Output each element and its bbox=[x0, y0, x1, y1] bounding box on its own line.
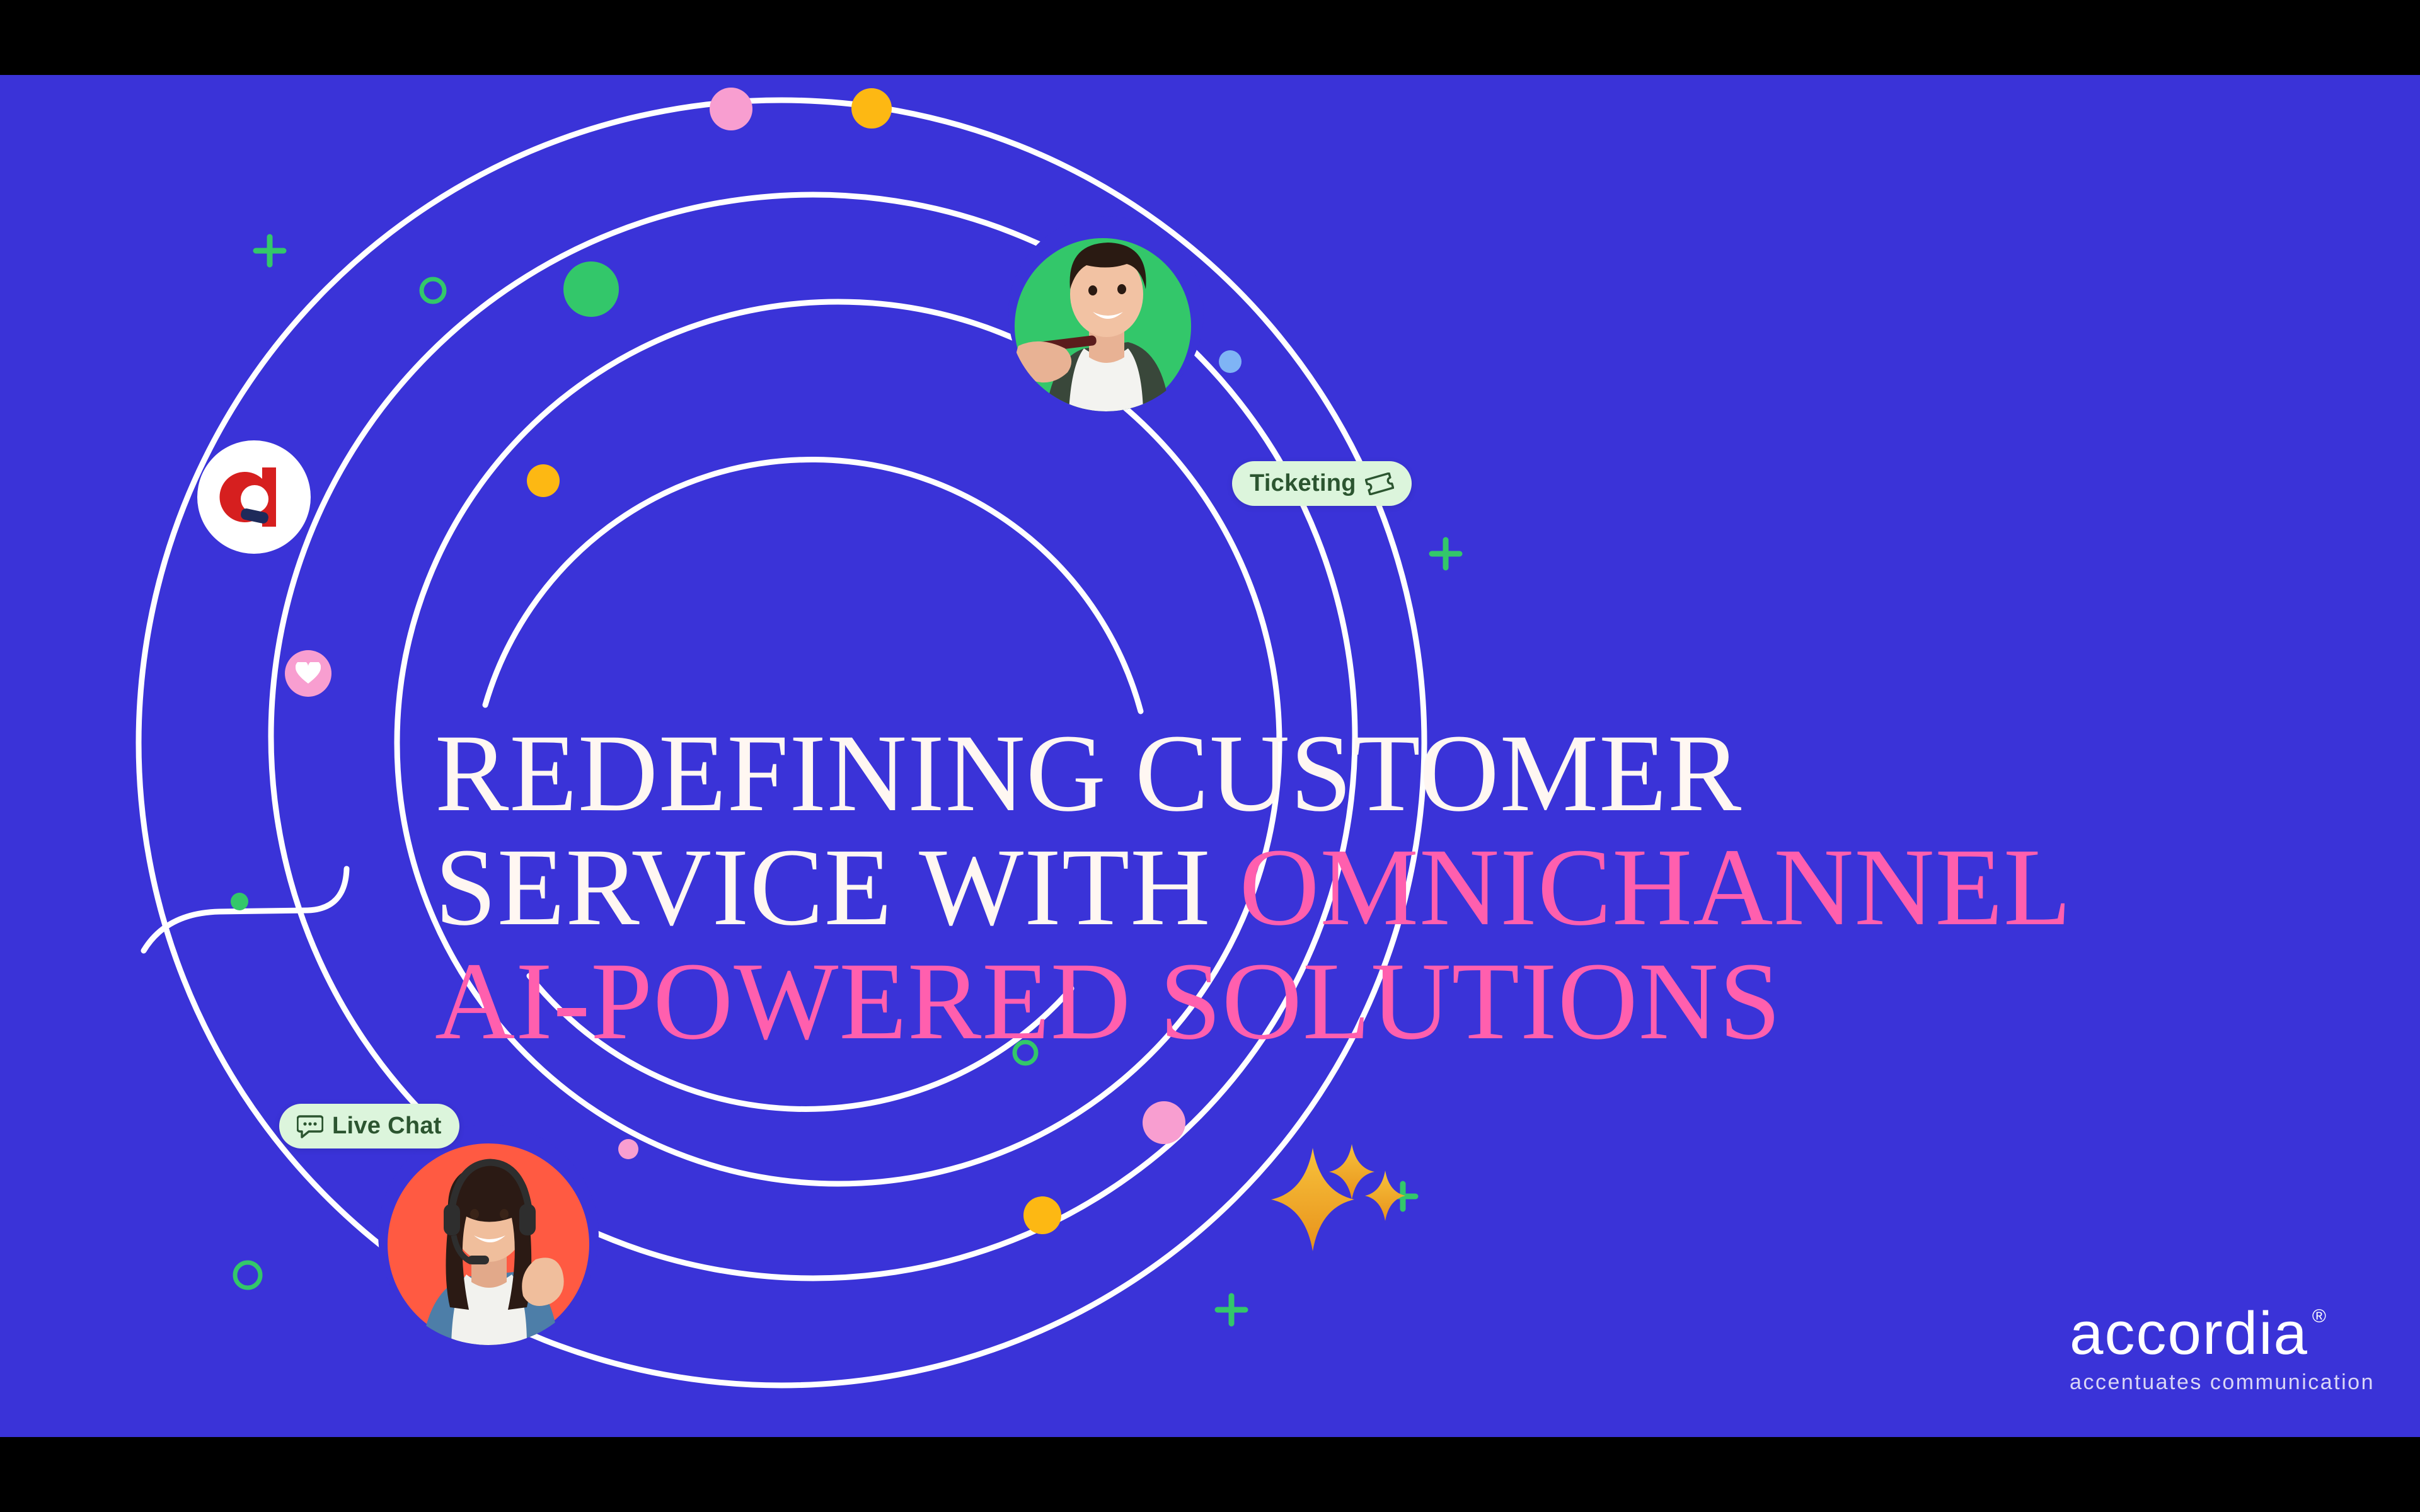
plus-green-lower-mid bbox=[1218, 1296, 1245, 1324]
brand-name: accordia bbox=[2070, 1303, 2308, 1364]
avatar-young-man-on-phone bbox=[1008, 216, 1204, 411]
dot-green-tiny bbox=[231, 893, 248, 910]
headline-line-3: AI-POWERED SOLUTIONS bbox=[435, 944, 2313, 1058]
headline-line-2-white: SERVICE WITH bbox=[435, 826, 1239, 949]
ticket-icon bbox=[1365, 472, 1394, 495]
accordia-logo-mark bbox=[197, 440, 311, 554]
dot-amber-inner bbox=[527, 464, 560, 497]
ring-green-lower bbox=[235, 1263, 260, 1288]
avatar-young-man-illustration bbox=[1008, 216, 1204, 411]
headline-line-1: REDEFINING CUSTOMER bbox=[435, 716, 2313, 830]
headline-line-2-accent: OMNICHANNEL bbox=[1239, 826, 2071, 949]
slide-canvas: REDEFINING CUSTOMER SERVICE WITH OMNICHA… bbox=[0, 0, 2420, 1512]
avatar-agent-illustration bbox=[378, 1125, 599, 1345]
chat-bubble-icon bbox=[297, 1114, 323, 1138]
sparkle-cluster-icon bbox=[1257, 1143, 1409, 1281]
badge-live-chat-label: Live Chat bbox=[332, 1113, 442, 1140]
letterbox-bottom bbox=[0, 1437, 2420, 1512]
accordia-a-icon bbox=[213, 456, 295, 538]
registered-trademark-icon: ® bbox=[2312, 1307, 2326, 1326]
letterbox-top bbox=[0, 0, 2420, 75]
heart-badge bbox=[285, 650, 331, 697]
avatar-support-agent bbox=[378, 1125, 599, 1345]
sparkle-small bbox=[1365, 1171, 1405, 1221]
dot-pink-bottom bbox=[1143, 1101, 1185, 1144]
sparkle-medium bbox=[1329, 1144, 1374, 1200]
badge-ticketing-label: Ticketing bbox=[1250, 470, 1356, 497]
slide-content: REDEFINING CUSTOMER SERVICE WITH OMNICHA… bbox=[0, 75, 2420, 1437]
page-title: REDEFINING CUSTOMER SERVICE WITH OMNICHA… bbox=[435, 716, 2313, 1059]
plus-green-upper-right bbox=[1432, 540, 1460, 568]
dot-amber-bottom bbox=[1023, 1196, 1061, 1234]
plus-green-upper-left bbox=[256, 237, 284, 265]
dot-amber-top bbox=[851, 88, 892, 129]
ring-green-upper bbox=[422, 279, 444, 302]
sparkle-large bbox=[1271, 1148, 1354, 1251]
badge-live-chat[interactable]: Live Chat bbox=[279, 1104, 459, 1148]
dot-pink-top bbox=[710, 88, 752, 130]
dot-blue-small bbox=[1219, 350, 1242, 373]
brand-wordmark: accordia ® accentuates communication bbox=[2070, 1303, 2375, 1393]
badge-ticketing[interactable]: Ticketing bbox=[1232, 461, 1412, 506]
dot-pink-tiny bbox=[618, 1139, 638, 1159]
headline-line-2: SERVICE WITH OMNICHANNEL bbox=[435, 830, 2313, 944]
dot-green-left bbox=[563, 261, 619, 317]
brand-tagline: accentuates communication bbox=[2070, 1372, 2375, 1393]
heart-icon bbox=[296, 662, 321, 685]
